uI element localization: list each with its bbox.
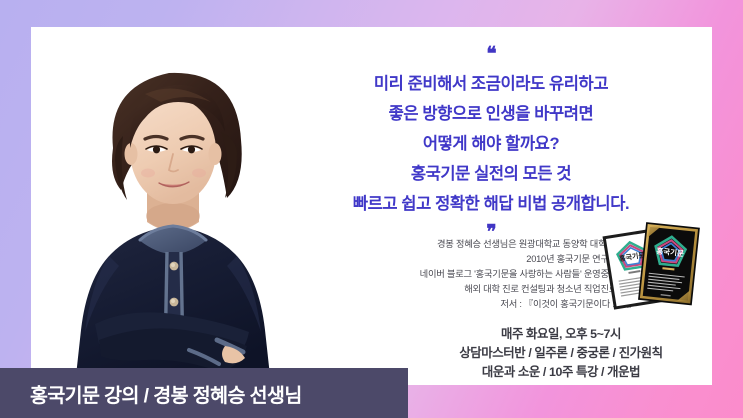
quote-open-icon: ❝: [281, 45, 701, 64]
bio-line: 2010년 홍국기문 연구소 개원: [316, 252, 636, 267]
class-schedule: 매주 화요일, 오후 5~7시 상담마스터반 / 일주론 / 중궁론 / 진가원…: [416, 325, 706, 382]
bio-line: 해외 대학 진로 컨설팅과 청소년 직업진로 지도: [316, 282, 636, 297]
book-covers-image: 홍국기문: [601, 215, 716, 330]
schedule-line: 상담마스터반 / 일주론 / 중궁론 / 진가원칙: [416, 344, 706, 363]
headline-quote-block: ❝ 미리 준비해서 조금이라도 유리하고 좋은 방향으로 인생을 바꾸려면 어떻…: [281, 45, 701, 242]
instructor-portrait: [49, 40, 297, 385]
bottom-title-banner: 홍국기문 강의 / 경봉 정혜승 선생님: [0, 368, 408, 418]
instructor-bio: 경봉 정혜승 선생님은 원광대학교 동양학 대학원 교수, 2010년 홍국기문…: [316, 237, 636, 312]
white-content-card: ❝ 미리 준비해서 조금이라도 유리하고 좋은 방향으로 인생을 바꾸려면 어떻…: [31, 27, 712, 385]
banner-title: 홍국기문 강의 / 경봉 정혜승 선생님: [0, 379, 302, 408]
bio-line: 경봉 정혜승 선생님은 원광대학교 동양학 대학원 교수,: [316, 237, 636, 252]
headline-line: 좋은 방향으로 인생을 바꾸려면: [281, 99, 701, 129]
bio-line: 저서 : 『이것이 홍국기문이다 1, 2』: [316, 297, 636, 312]
headline-lines: 미리 준비해서 조금이라도 유리하고 좋은 방향으로 인생을 바꾸려면 어떻게 …: [281, 69, 701, 219]
schedule-line: 대운과 소운 / 10주 특강 / 개운법: [416, 363, 706, 382]
schedule-line: 매주 화요일, 오후 5~7시: [416, 325, 706, 344]
headline-line: 미리 준비해서 조금이라도 유리하고: [281, 69, 701, 99]
headline-line: 홍국기문 실전의 모든 것: [281, 159, 701, 189]
headline-line: 어떻게 해야 할까요?: [281, 129, 701, 159]
promotional-poster: ❝ 미리 준비해서 조금이라도 유리하고 좋은 방향으로 인생을 바꾸려면 어떻…: [0, 0, 743, 418]
bio-line: 네이버 블로그 '홍국기문을 사랑하는 사람들' 운영중입니다.: [316, 267, 636, 282]
